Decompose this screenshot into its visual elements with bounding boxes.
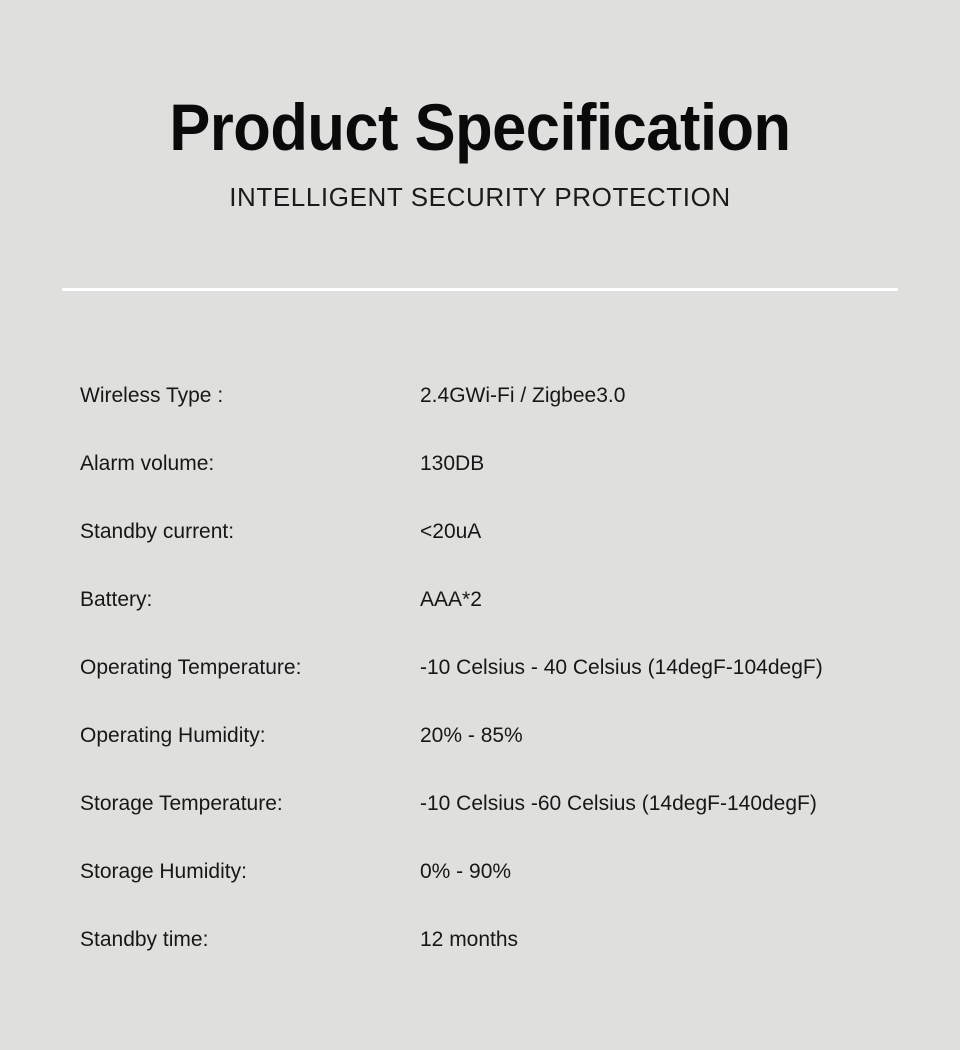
spec-label: Standby current: <box>80 519 234 544</box>
page-title: Product Specification <box>34 0 927 161</box>
spec-value: 2.4GWi-Fi / Zigbee3.0 <box>420 383 625 408</box>
spec-value: <20uA <box>420 519 481 544</box>
spec-value: 20% - 85% <box>420 723 523 748</box>
spec-label: Standby time: <box>80 927 208 952</box>
table-row: Standby time: 12 months <box>0 906 960 974</box>
spec-table: Wireless Type : 2.4GWi-Fi / Zigbee3.0 Al… <box>0 362 960 974</box>
spec-label: Operating Temperature: <box>80 655 301 680</box>
table-row: Storage Humidity: 0% - 90% <box>0 838 960 906</box>
spec-value: -10 Celsius -60 Celsius (14degF-140degF) <box>420 791 817 816</box>
spec-label: Alarm volume: <box>80 451 214 476</box>
spec-value: 130DB <box>420 451 484 476</box>
product-specification-sheet: Product Specification INTELLIGENT SECURI… <box>0 0 960 1050</box>
spec-value: 12 months <box>420 927 518 952</box>
spec-label: Wireless Type : <box>80 383 223 408</box>
spec-label: Operating Humidity: <box>80 723 266 748</box>
table-row: Standby current: <20uA <box>0 498 960 566</box>
table-row: Battery: AAA*2 <box>0 566 960 634</box>
spec-value: 0% - 90% <box>420 859 511 884</box>
header: Product Specification INTELLIGENT SECURI… <box>0 0 960 212</box>
spec-label: Storage Temperature: <box>80 791 283 816</box>
spec-value: AAA*2 <box>420 587 482 612</box>
table-row: Storage Temperature: -10 Celsius -60 Cel… <box>0 770 960 838</box>
table-row: Operating Temperature: -10 Celsius - 40 … <box>0 634 960 702</box>
spec-label: Battery: <box>80 587 152 612</box>
table-row: Operating Humidity: 20% - 85% <box>0 702 960 770</box>
table-row: Wireless Type : 2.4GWi-Fi / Zigbee3.0 <box>0 362 960 430</box>
spec-label: Storage Humidity: <box>80 859 247 884</box>
page-subtitle: INTELLIGENT SECURITY PROTECTION <box>0 161 960 212</box>
table-row: Alarm volume: 130DB <box>0 430 960 498</box>
header-divider <box>62 288 898 291</box>
spec-value: -10 Celsius - 40 Celsius (14degF-104degF… <box>420 655 823 680</box>
